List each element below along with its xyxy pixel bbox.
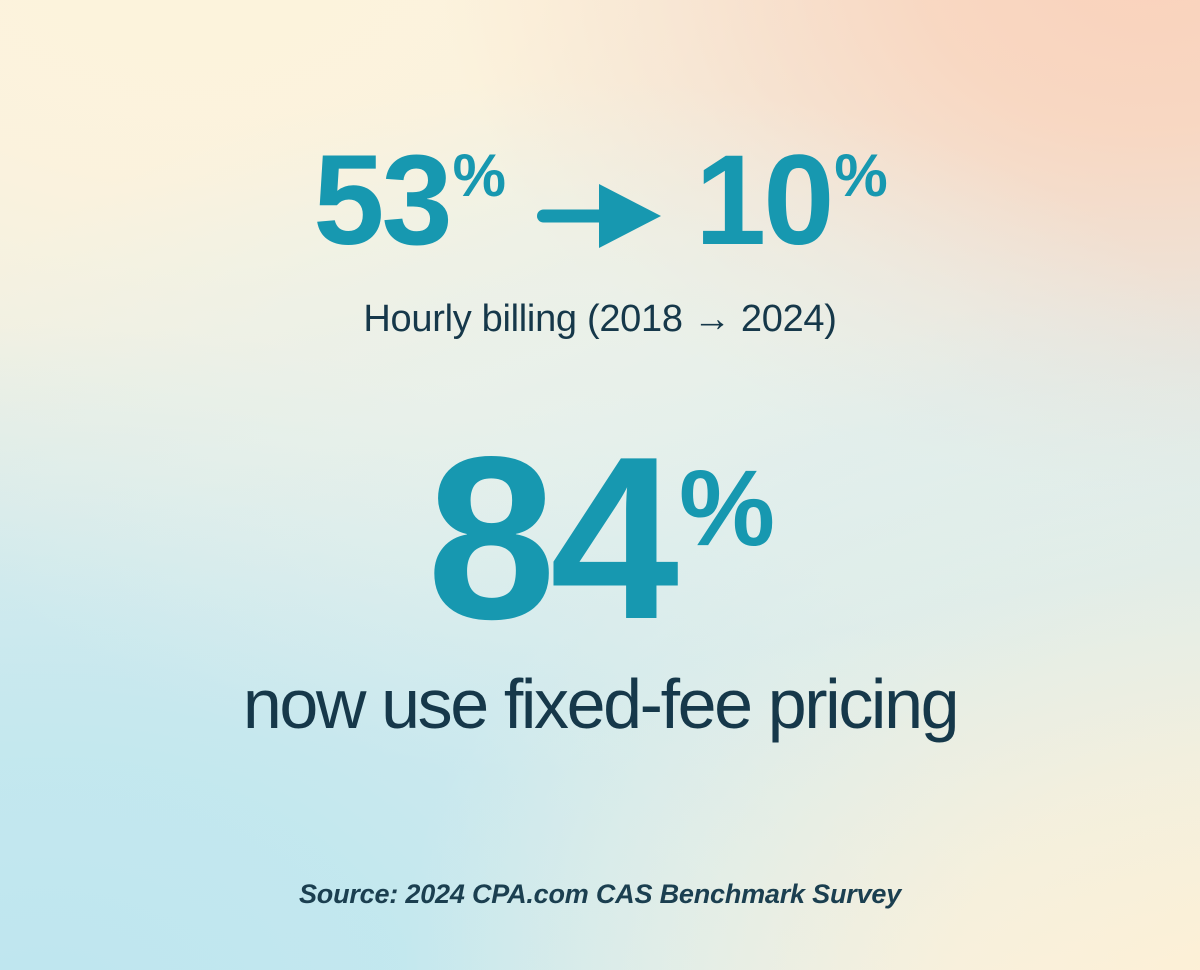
hero-stat-unit: % bbox=[679, 454, 773, 562]
stat-after-unit: % bbox=[834, 146, 886, 206]
hero-caption: now use fixed-fee pricing bbox=[0, 668, 1200, 742]
source-attribution: Source: 2024 CPA.com CAS Benchmark Surve… bbox=[0, 879, 1200, 910]
stat-after-value: 10 bbox=[695, 138, 831, 263]
stat-card: 53 % 10 % Hourly billing (2018 → 2024) 8… bbox=[0, 0, 1200, 970]
arrow-right-icon bbox=[535, 138, 665, 252]
stat-before-unit: % bbox=[453, 146, 505, 206]
stat-after: 10 % bbox=[695, 138, 887, 263]
comparison-row: 53 % 10 % bbox=[0, 138, 1200, 263]
comparison-caption: Hourly billing (2018 → 2024) bbox=[0, 298, 1200, 341]
stat-before-value: 53 bbox=[313, 138, 449, 263]
hero-stat: 84 % bbox=[0, 440, 1200, 637]
stat-before: 53 % bbox=[313, 138, 505, 263]
hero-stat-value: 84 bbox=[427, 440, 673, 637]
